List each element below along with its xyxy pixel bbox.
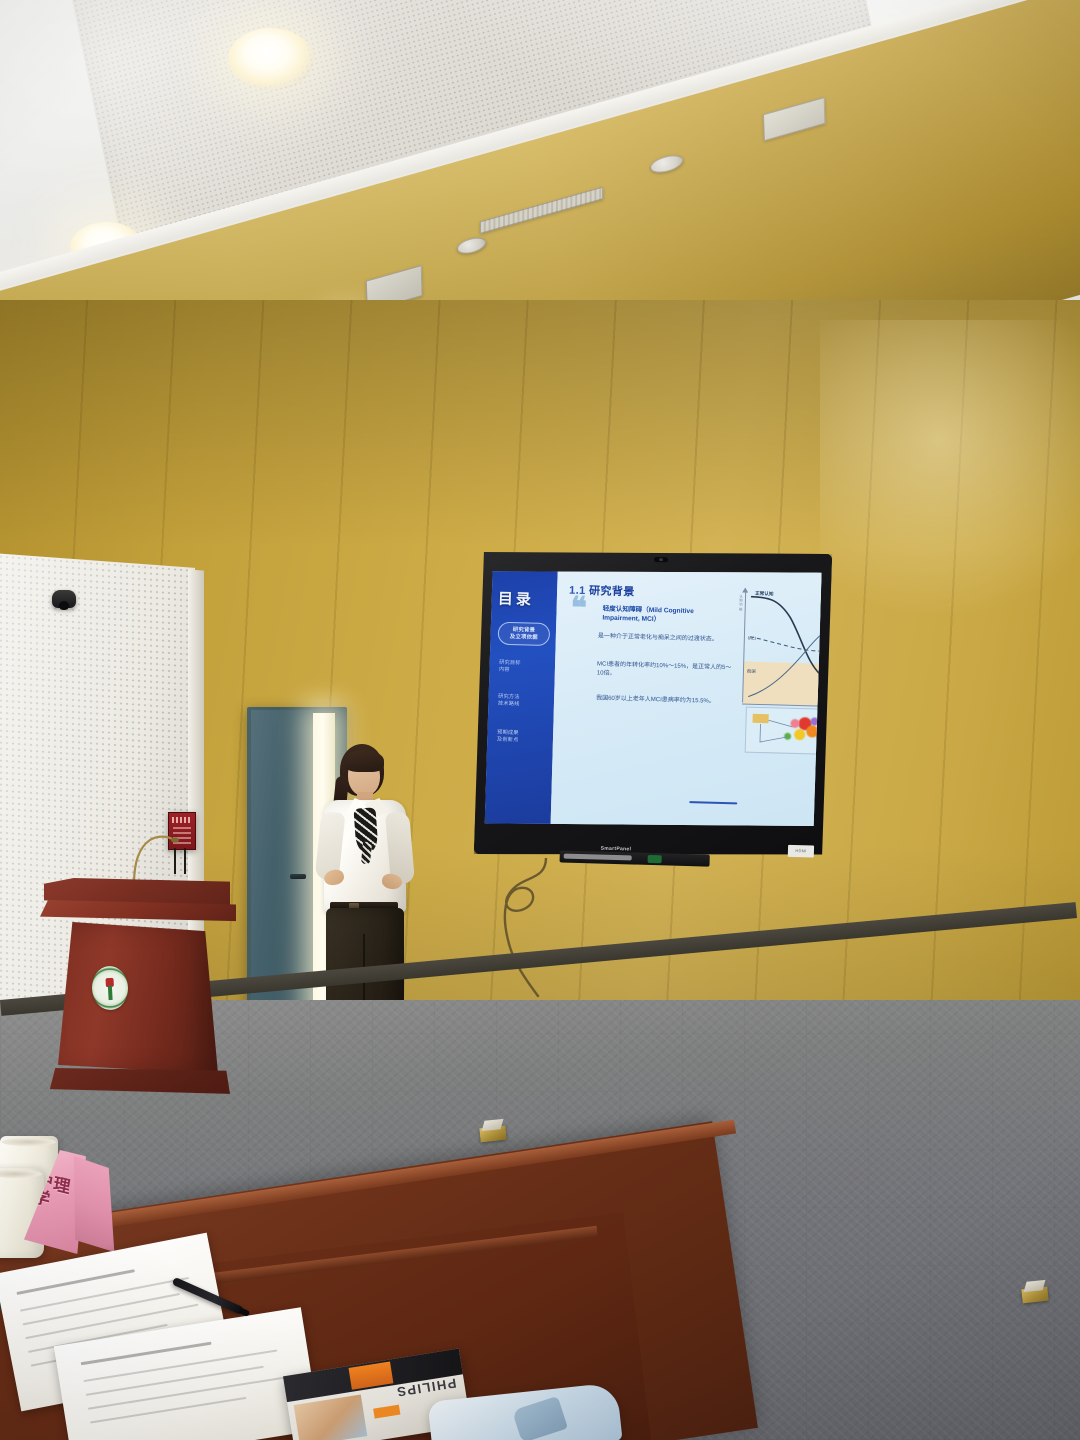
brain-network-figure [745,707,822,756]
display-port-tag: HDMI [788,845,814,858]
slide-paragraph-3: 我国60岁以上老年人MCI患病率约为15.5%。 [596,694,734,706]
gooseneck-microphone[interactable] [128,830,180,884]
ceiling-speaker-2 [455,235,488,257]
name-tent-text: 护理学 [32,1171,80,1215]
presenter-fringe [344,750,384,772]
podium-base [48,1068,230,1102]
ceiling-speaker-3 [648,152,685,176]
sidebar-item-2[interactable]: 研究方法 技术路线 [498,694,550,710]
conference-room-photo: 目录 研究背景 及立项依据 研究目标 内容 研究方法 技术路线 预期成果 及创新… [0,0,1080,1440]
floor-socket-1[interactable] [479,1126,506,1143]
name-tent-back [74,1156,130,1256]
quote-icon: ❝ [570,600,587,618]
podium-body [58,922,218,1074]
chart-label-dementia: 痴呆 [747,669,756,675]
sidebar-item-active[interactable]: 研究背景 及立项依据 [498,622,551,646]
display-camera-icon [654,557,668,562]
slide-divider [689,801,737,804]
slide-sidebar-title: 目录 [498,588,553,610]
slide-sidebar: 目录 研究背景 及立项依据 研究目标 内容 研究方法 技术路线 预期成果 及创新… [485,563,558,825]
sidebar-item-3[interactable]: 预期成果 及创新点 [497,730,549,746]
slide-paragraph-1: 是一种介于正常老化与痴呆之间的过渡状态。 [598,632,736,644]
name-tent-card: 护理学 [24,1150,128,1262]
speaker-podium[interactable] [36,878,236,1118]
security-camera-icon [52,590,76,608]
slide-content-area: 1.1 研究背景 ❝ 轻度认知障碍（Mild Cognitive Impairm… [551,565,822,832]
chart-label-normal-cognition: 正常认知 [755,591,774,598]
wall-light-reflection [820,320,1080,620]
slide-heading-text: 研究背景 [589,585,635,598]
air-vent-2 [480,187,603,234]
chart-y-axis-label: 认知功能 [738,594,744,611]
display-screen[interactable]: 目录 研究背景 及立项依据 研究目标 内容 研究方法 技术路线 预期成果 及创新… [485,563,822,832]
figure-links [746,708,822,757]
ceiling-access-panel-2 [763,97,825,141]
floor-socket-2[interactable] [1021,1287,1048,1304]
sidebar-item-1[interactable]: 研究目标 内容 [499,660,551,676]
cognitive-decline-chart: 认知功能 正常认知 MCI 痴呆 认知储备 MCI进展延缓 痴呆发生延缓 [736,588,822,708]
slide-lead-text: 轻度认知障碍（Mild Cognitive Impairment, MCI） [602,605,732,627]
display-cable [490,858,580,998]
slide-paragraph-2: MCI患者的年转化率约10%～15%，是正常人的5～10倍。 [597,660,735,681]
chart-label-mci: MCI [748,636,757,641]
presentation-slide: 目录 研究背景 及立项依据 研究目标 内容 研究方法 技术路线 预期成果 及创新… [485,563,822,832]
downlight-1 [228,28,314,90]
chart-curves [736,588,822,708]
wall-mounted-smart-display[interactable]: 目录 研究背景 及立项依据 研究目标 内容 研究方法 技术路线 预期成果 及创新… [474,544,833,864]
